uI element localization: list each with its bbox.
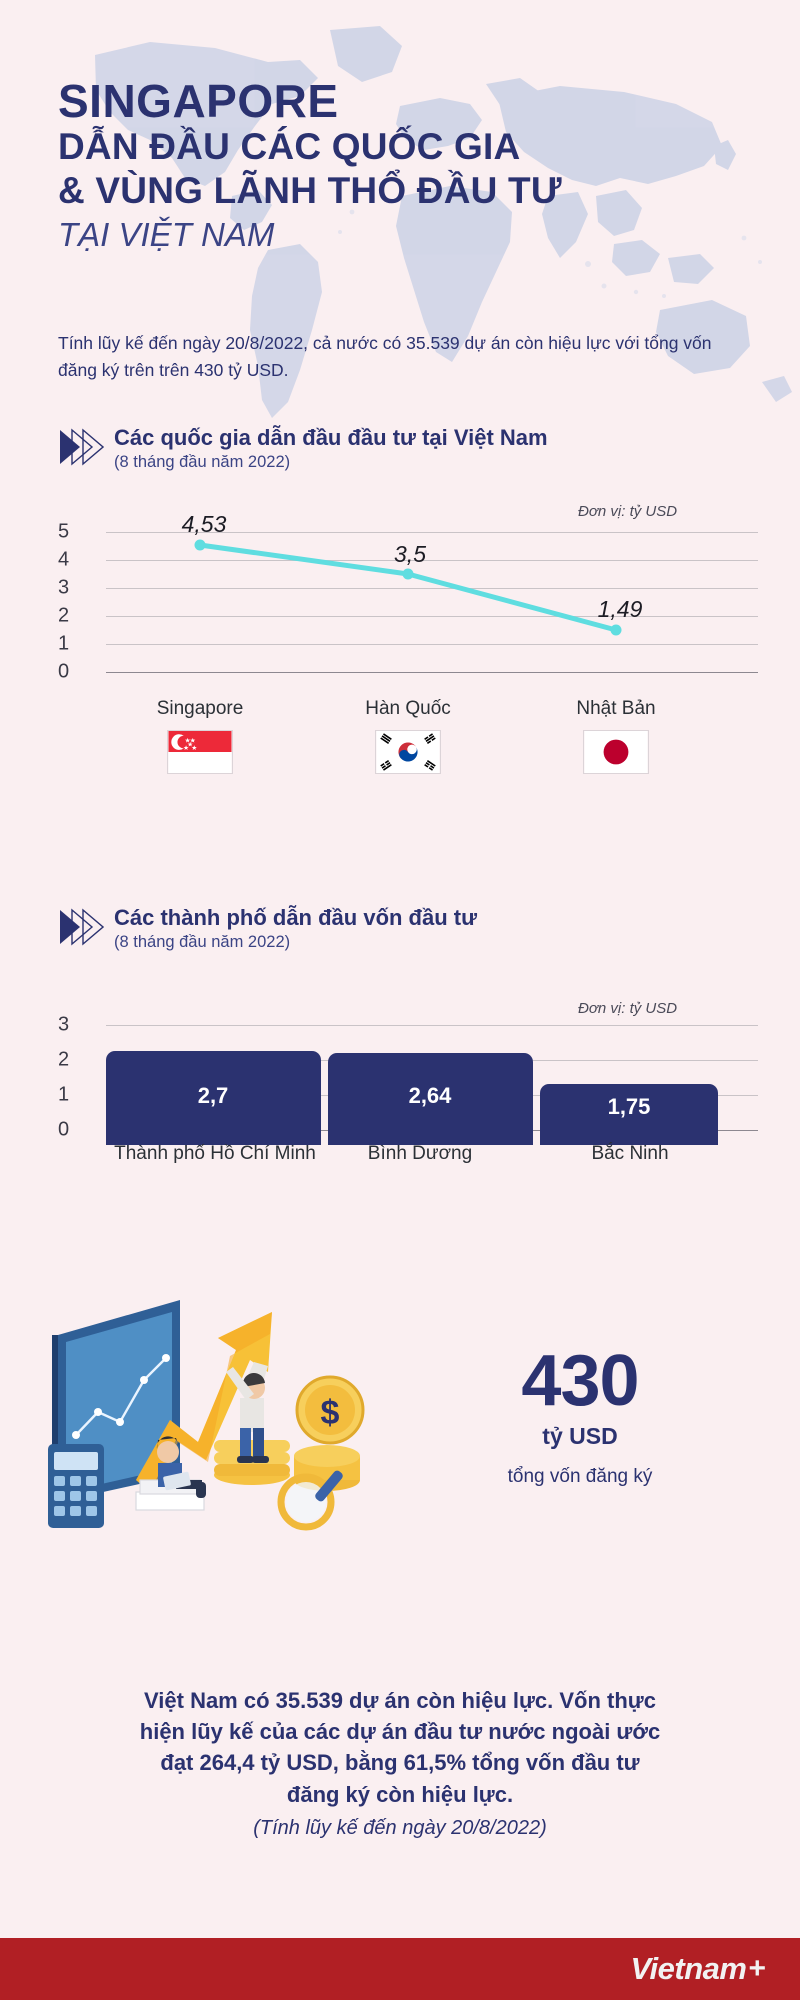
value-label-hanquoc: 3,5 bbox=[394, 541, 426, 568]
bar-category-hochiminh: Thành phố Hồ Chí Minh bbox=[114, 1143, 316, 1165]
brand-bar: Vietnam + bbox=[0, 1938, 800, 2000]
footer-line-2: hiện lũy kế của các dự án đầu tư nước ng… bbox=[60, 1716, 740, 1747]
page-title-line4: TẠI VIỆT NAM bbox=[58, 214, 758, 257]
brand-plus-icon: + bbox=[748, 1952, 766, 1986]
south-korea-flag-icon bbox=[375, 730, 441, 774]
section-title-countries: Các quốc gia dẫn đầu đầu tư tại Việt Nam bbox=[114, 425, 548, 450]
category-label-hanquoc: Hàn Quốc bbox=[365, 698, 451, 720]
highlight-unit: tỷ USD bbox=[420, 1423, 740, 1450]
section-header-cities: Các thành phố dẫn đầu vốn đầu tư (8 thán… bbox=[58, 905, 477, 952]
data-point-nhatban bbox=[611, 625, 622, 636]
unit-label-cities: Đơn vị: tỷ USD bbox=[578, 1000, 677, 1017]
page-title-line3: & VÙNG LÃNH THỔ ĐẦU TƯ bbox=[58, 169, 758, 213]
value-label-nhatban: 1,49 bbox=[598, 596, 643, 623]
highlight-block: 430 tỷ USD tổng vốn đăng ký bbox=[420, 1345, 740, 1488]
data-point-hanquoc bbox=[403, 569, 414, 580]
page-header: SINGAPORE DẪN ĐẦU CÁC QUỐC GIA & VÙNG LÃ… bbox=[58, 78, 758, 257]
category-label-nhatban: Nhật Bản bbox=[576, 698, 655, 720]
highlight-number: 430 bbox=[420, 1345, 740, 1417]
highlight-caption: tổng vốn đăng ký bbox=[420, 1466, 740, 1488]
triple-chevron-icon-2 bbox=[58, 907, 104, 947]
unit-label-countries: Đơn vị: tỷ USD bbox=[578, 503, 677, 520]
page-title-main: SINGAPORE bbox=[58, 78, 758, 125]
section-title-cities: Các thành phố dẫn đầu vốn đầu tư bbox=[114, 905, 477, 930]
brand-name: Vietnam bbox=[631, 1951, 747, 1987]
investment-illustration: $ bbox=[40, 1230, 370, 1550]
section-subtitle-cities: (8 tháng đầu năm 2022) bbox=[114, 933, 477, 952]
bar-value-hochiminh: 2,7 bbox=[198, 1083, 229, 1109]
category-label-singapore: Singapore bbox=[157, 698, 244, 720]
triple-chevron-icon bbox=[58, 427, 104, 467]
infographic-page: SINGAPORE DẪN ĐẦU CÁC QUỐC GIA & VÙNG LÃ… bbox=[0, 0, 800, 2000]
bar-ytick-2: 2 bbox=[58, 1049, 88, 1072]
value-label-singapore: 4,53 bbox=[182, 511, 227, 538]
footer-line-1: Việt Nam có 35.539 dự án còn hiệu lực. V… bbox=[60, 1685, 740, 1716]
japan-flag-icon bbox=[583, 730, 649, 774]
footer-line-3: đạt 264,4 tỷ USD, bằng 61,5% tổng vốn đầ… bbox=[60, 1747, 740, 1778]
footer-note: (Tính lũy kế đến ngày 20/8/2022) bbox=[60, 1814, 740, 1842]
bar-ytick-0: 0 bbox=[58, 1119, 88, 1142]
footer-text-block: Việt Nam có 35.539 dự án còn hiệu lực. V… bbox=[60, 1685, 740, 1842]
bar-chart-cities: 3 2 1 0 2,7 2,64 1,75 bbox=[58, 1025, 758, 1145]
page-title-line2: DẪN ĐẦU CÁC QUỐC GIA bbox=[58, 125, 758, 169]
svg-text:$: $ bbox=[321, 1394, 340, 1432]
bar-value-bacninh: 1,75 bbox=[608, 1094, 651, 1120]
singapore-flag-icon bbox=[167, 730, 233, 774]
footer-line-4: đăng ký còn hiệu lực. bbox=[60, 1779, 740, 1810]
data-point-singapore bbox=[195, 540, 206, 551]
line-chart-countries: 5 4 3 2 1 0 4,53 3,5 1,49 bbox=[58, 520, 758, 690]
bar-ytick-3: 3 bbox=[58, 1014, 88, 1037]
section-header-countries: Các quốc gia dẫn đầu đầu tư tại Việt Nam… bbox=[58, 425, 548, 472]
bar-value-binhduong: 2,64 bbox=[409, 1083, 452, 1109]
bar-category-binhduong: Bình Dương bbox=[368, 1143, 472, 1165]
bar-category-bacninh: Bắc Ninh bbox=[591, 1143, 668, 1165]
bar-gridline-3 bbox=[106, 1025, 758, 1026]
bar-ytick-1: 1 bbox=[58, 1084, 88, 1107]
section-subtitle-countries: (8 tháng đầu năm 2022) bbox=[114, 453, 548, 472]
intro-paragraph: Tính lũy kế đến ngày 20/8/2022, cả nước … bbox=[58, 330, 718, 383]
